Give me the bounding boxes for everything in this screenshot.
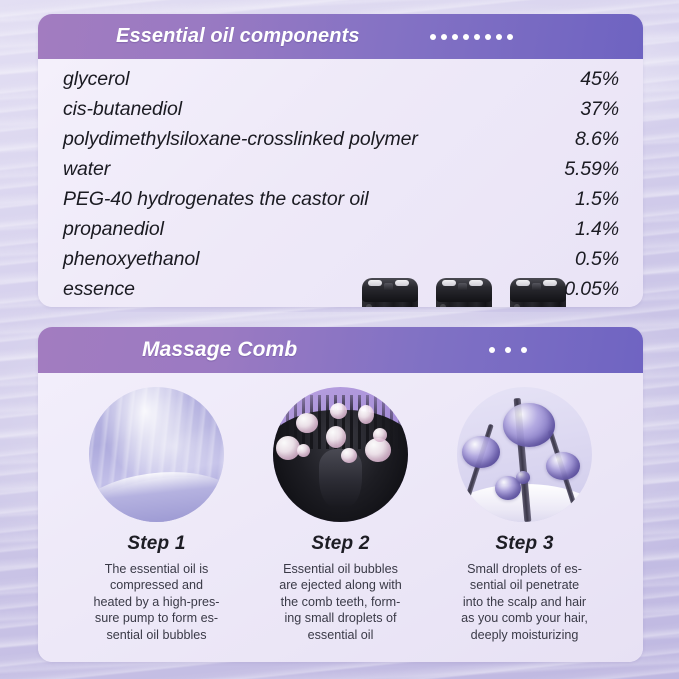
step-1-description: The essential oil is compressed and heat… — [72, 561, 242, 643]
ingredient-value: 0.05% — [564, 278, 619, 301]
components-header-dots — [430, 34, 513, 40]
dot-icon — [441, 34, 447, 40]
ingredient-value: 1.4% — [575, 218, 619, 241]
ingredient-value: 1.5% — [575, 188, 619, 211]
panel-massage-comb: Massage Comb Step 1 — [38, 327, 643, 662]
page-root: Essential oil components glycerol 4 — [0, 0, 679, 679]
oil-droplet-icon — [516, 471, 530, 484]
dot-icon — [430, 34, 436, 40]
step-item-3: Step 3 Small droplets of es- sential oil… — [440, 387, 610, 643]
ingredient-value: 0.5% — [575, 248, 619, 271]
step-desc-line: as you comb your hair, — [452, 610, 598, 626]
ingredient-value: 37% — [580, 98, 619, 121]
step-desc-line: heated by a high-pres- — [84, 594, 230, 610]
ingredient-row: glycerol 45% — [63, 68, 619, 98]
bubble-icon — [365, 438, 391, 462]
bubble-icon — [358, 405, 374, 424]
step-desc-line: into the scalp and hair — [452, 594, 598, 610]
step-desc-line: sential oil penetrate — [452, 577, 598, 593]
dot-icon — [452, 34, 458, 40]
infographic-card: Essential oil components glycerol 4 — [38, 14, 643, 662]
dot-icon — [463, 34, 469, 40]
step-3-title: Step 3 — [440, 533, 610, 555]
dot-icon — [489, 347, 495, 353]
ingredient-value: 5.59% — [564, 158, 619, 181]
ingredient-row: PEG-40 hydrogenates the castor oil 1.5% — [63, 188, 619, 218]
comb-header-dots — [489, 347, 527, 353]
bubble-icon — [373, 428, 387, 442]
step-desc-line: essential oil — [268, 627, 414, 643]
step-desc-line: sure pump to form es- — [84, 610, 230, 626]
components-body: glycerol 45% cis-butanediol 37% polydime… — [38, 59, 643, 307]
step-desc-line: the comb teeth, form- — [268, 594, 414, 610]
components-header: Essential oil components — [38, 14, 643, 59]
ingredient-name: water — [63, 158, 110, 181]
bubble-icon — [296, 413, 318, 433]
ingredient-name: cis-butanediol — [63, 98, 182, 121]
comb-title: Massage Comb — [142, 338, 297, 362]
oil-droplet-icon — [503, 403, 555, 447]
ingredient-name: phenoxyethanol — [63, 248, 199, 271]
bubble-icon — [297, 444, 310, 457]
dot-icon — [505, 347, 511, 353]
step-item-2: Step 2 Essential oil bubbles are ejected… — [256, 387, 426, 643]
panel-essential-oil-components: Essential oil components glycerol 4 — [38, 14, 643, 307]
step-desc-line: ing small droplets of — [268, 610, 414, 626]
step-3-description: Small droplets of es- sential oil penetr… — [440, 561, 610, 643]
step-desc-line: compressed and — [84, 577, 230, 593]
components-title: Essential oil components — [116, 25, 360, 48]
step-desc-line: are ejected along with — [268, 577, 414, 593]
ingredient-row: phenoxyethanol 0.5% — [63, 248, 619, 278]
step-1-image — [89, 387, 224, 522]
ingredient-list: glycerol 45% cis-butanediol 37% polydime… — [38, 59, 643, 307]
comb-header: Massage Comb — [38, 327, 643, 373]
ingredient-row: water 5.59% — [63, 158, 619, 188]
dot-icon — [507, 34, 513, 40]
ingredient-name: propanediol — [63, 218, 164, 241]
dot-icon — [485, 34, 491, 40]
step-desc-line: The essential oil is — [84, 561, 230, 577]
step-desc-line: Essential oil bubbles — [268, 561, 414, 577]
ingredient-row: cis-butanediol 37% — [63, 98, 619, 128]
step-desc-line: Small droplets of es- — [452, 561, 598, 577]
step-desc-line: sential oil bubbles — [84, 627, 230, 643]
bubble-icon — [326, 426, 346, 448]
oil-droplet-icon — [546, 452, 580, 480]
dot-icon — [474, 34, 480, 40]
step-item-1: Step 1 The essential oil is compressed a… — [72, 387, 242, 643]
ingredient-name: glycerol — [63, 68, 129, 91]
oil-droplet-icon — [462, 436, 500, 468]
step-2-description: Essential oil bubbles are ejected along … — [256, 561, 426, 643]
ingredient-name: PEG-40 hydrogenates the castor oil — [63, 188, 369, 211]
dot-icon — [521, 347, 527, 353]
bubble-icon — [341, 448, 357, 463]
step-2-image — [273, 387, 408, 522]
comb-body: Step 1 The essential oil is compressed a… — [38, 373, 643, 662]
ingredient-name: polydimethylsiloxane-crosslinked polymer — [63, 128, 418, 151]
ingredient-name: essence — [63, 278, 135, 301]
steps-row: Step 1 The essential oil is compressed a… — [38, 373, 643, 643]
ingredient-row: polydimethylsiloxane-crosslinked polymer… — [63, 128, 619, 158]
ingredient-value: 8.6% — [575, 128, 619, 151]
dot-icon — [496, 34, 502, 40]
step-desc-line: deeply moisturizing — [452, 627, 598, 643]
step-2-title: Step 2 — [256, 533, 426, 555]
bubble-icon — [276, 436, 300, 460]
ingredient-row: propanediol 1.4% — [63, 218, 619, 248]
step-1-title: Step 1 — [72, 533, 242, 555]
ingredient-value: 45% — [580, 68, 619, 91]
ingredient-row: essence 0.05% — [63, 278, 619, 307]
step-3-image — [457, 387, 592, 522]
bubble-icon — [330, 403, 347, 419]
